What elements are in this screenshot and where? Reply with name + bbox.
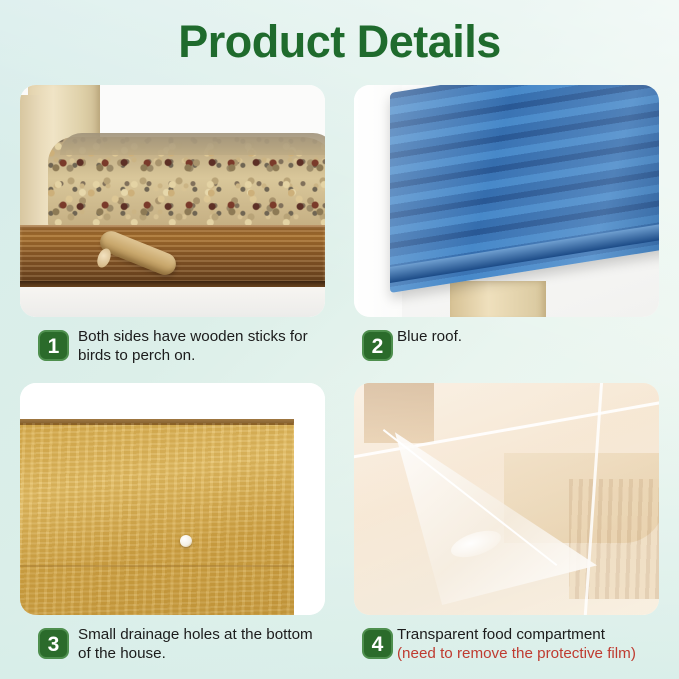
photo-floor <box>20 287 325 317</box>
caption-text-3: Small drainage holes at the bottom of th… <box>78 626 323 663</box>
badge-number-2: 2 <box>362 330 393 361</box>
badge-number-1: 1 <box>38 330 69 361</box>
birdseed-top-shadow <box>60 133 325 155</box>
feature-photo-1 <box>20 85 325 317</box>
board-seam-line <box>20 565 294 567</box>
caption-text-1: Both sides have wooden sticks for birds … <box>78 328 323 365</box>
badge-number-4: 4 <box>362 628 393 659</box>
feature-photo-4 <box>354 383 659 615</box>
wooden-post <box>450 281 546 317</box>
feature-caption-1: 1 Both sides have wooden sticks for bird… <box>20 328 325 365</box>
caption-note-4: (need to remove the protective film) <box>397 645 636 664</box>
feature-row-bottom: 3 Small drainage holes at the bottom of … <box>20 383 659 663</box>
feature-caption-2: 2 Blue roof. <box>354 328 659 361</box>
feature-item-2: 2 Blue roof. <box>354 85 659 365</box>
feature-item-3: 3 Small drainage holes at the bottom of … <box>20 383 325 663</box>
feature-photo-2 <box>354 85 659 317</box>
page-title: Product Details <box>0 16 679 68</box>
caption-text-4: Transparent food compartment(need to rem… <box>397 626 636 663</box>
feature-caption-4: 4 Transparent food compartment(need to r… <box>354 626 659 663</box>
wood-grain-texture <box>20 423 294 615</box>
feature-caption-3: 3 Small drainage holes at the bottom of … <box>20 626 325 663</box>
feature-grid: 1 Both sides have wooden sticks for bird… <box>20 85 659 663</box>
feature-item-4: 4 Transparent food compartment(need to r… <box>354 383 659 663</box>
caption-text-2: Blue roof. <box>397 328 462 347</box>
feature-row-top: 1 Both sides have wooden sticks for bird… <box>20 85 659 365</box>
caption-main-4: Transparent food compartment <box>397 626 605 643</box>
feature-item-1: 1 Both sides have wooden sticks for bird… <box>20 85 325 365</box>
feature-photo-3 <box>20 383 325 615</box>
drainage-hole <box>180 535 192 547</box>
badge-number-3: 3 <box>38 628 69 659</box>
product-details-infographic: Product Details 1 <box>0 0 679 679</box>
